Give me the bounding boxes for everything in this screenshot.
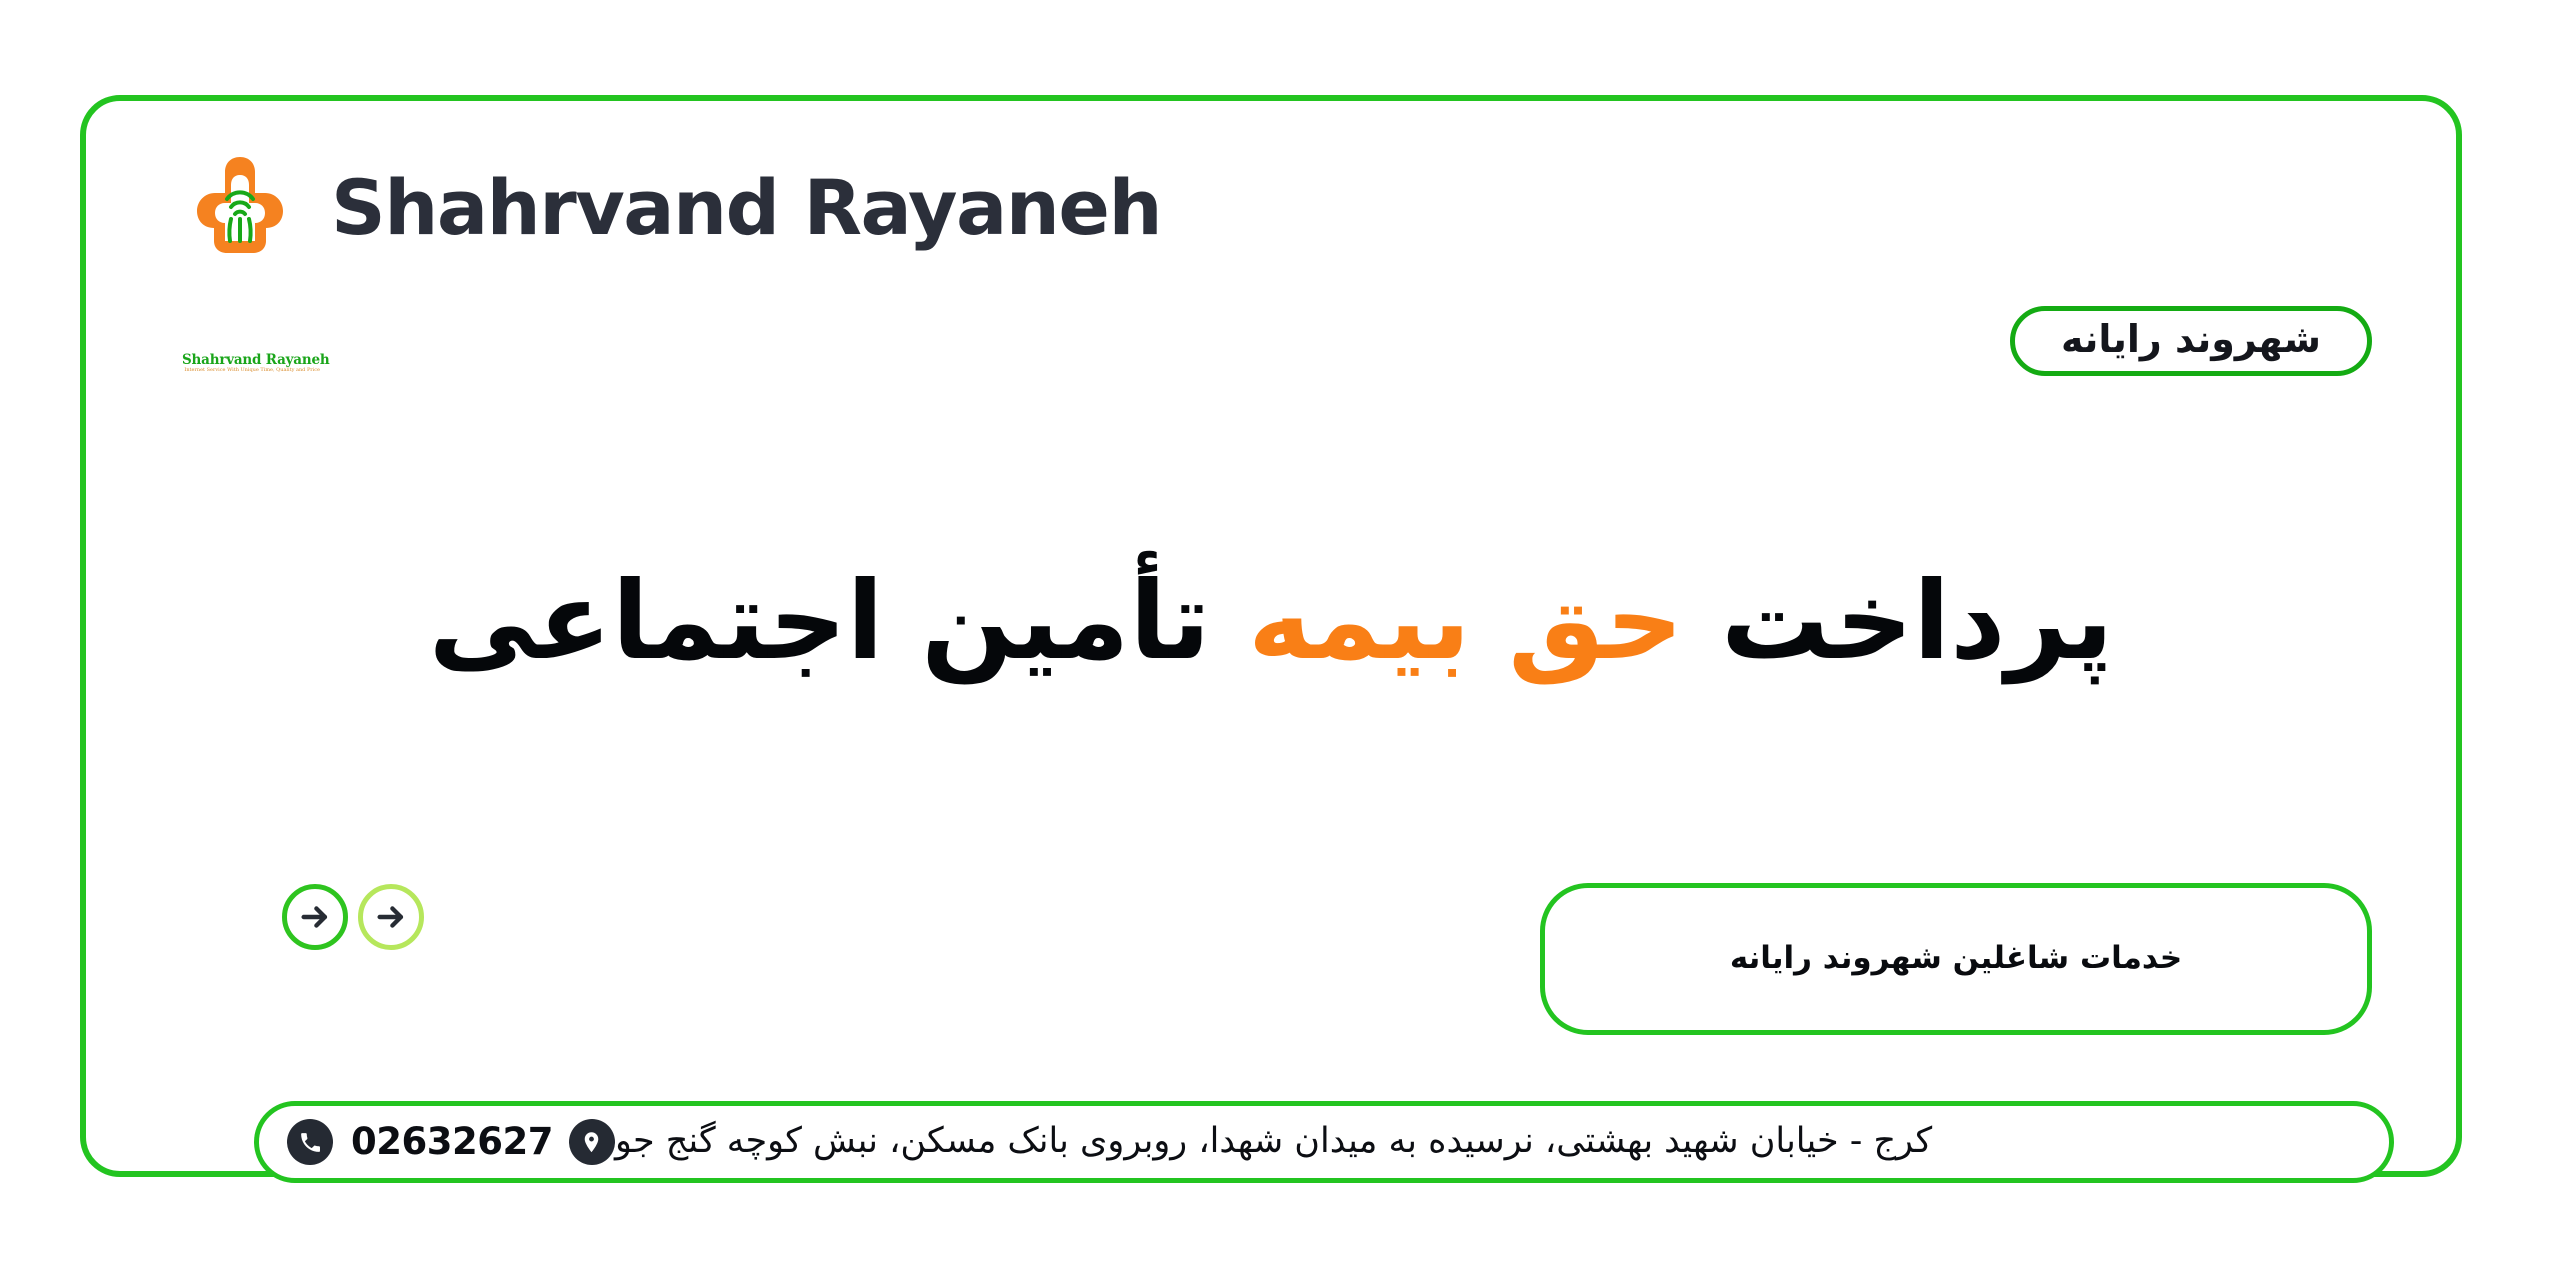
contact-bar: 02632627 کرج - خیابان شهید بهشتی، نرسیده…	[254, 1101, 2394, 1183]
arrow-right-icon	[374, 900, 408, 934]
card-header: Shahrvand Rayaneh Shahrvand Rayaneh Inte…	[86, 101, 2456, 321]
employee-services-button[interactable]: خدمات شاغلین شهروند رایانه	[1540, 883, 2372, 1035]
brand-lockup[interactable]: Shahrvand Rayaneh	[181, 149, 1161, 267]
page-title: پرداخت حق بیمه تأمین اجتماعی	[86, 553, 2456, 691]
arrow-right-icon	[298, 900, 332, 934]
shahrvand-rayaneh-logo-icon	[181, 149, 299, 267]
brand-pill-label: شهروند رایانه	[2061, 320, 2321, 358]
promo-card: Shahrvand Rayaneh Shahrvand Rayaneh Inte…	[80, 95, 2462, 1177]
logo-subtext: Shahrvand Rayaneh Internet Service With …	[182, 353, 300, 374]
map-pin-icon[interactable]	[569, 1119, 615, 1165]
headline-accent: حق بیمه	[1248, 559, 1683, 684]
headline-part2: تأمین اجتماعی	[429, 559, 1248, 684]
phone-icon[interactable]	[287, 1119, 333, 1165]
headline-part1: پرداخت	[1683, 559, 2113, 684]
logo-subtext-tagline: Internet Service With Unique Time, Quali…	[184, 368, 297, 373]
address-text: کرج - خیابان شهید بهشتی، نرسیده به میدان…	[615, 1124, 1932, 1159]
logo-subtext-main: Shahrvand Rayaneh	[182, 353, 300, 367]
phone-number[interactable]: 02632627	[351, 1123, 553, 1160]
carousel-prev-button[interactable]	[282, 884, 348, 950]
employee-services-label: خدمات شاغلین شهروند رایانه	[1730, 943, 2182, 974]
carousel-next-button[interactable]	[358, 884, 424, 950]
brand-wordmark: Shahrvand Rayaneh	[331, 170, 1161, 246]
carousel-controls	[282, 884, 434, 950]
brand-pill-persian[interactable]: شهروند رایانه	[2010, 306, 2372, 376]
